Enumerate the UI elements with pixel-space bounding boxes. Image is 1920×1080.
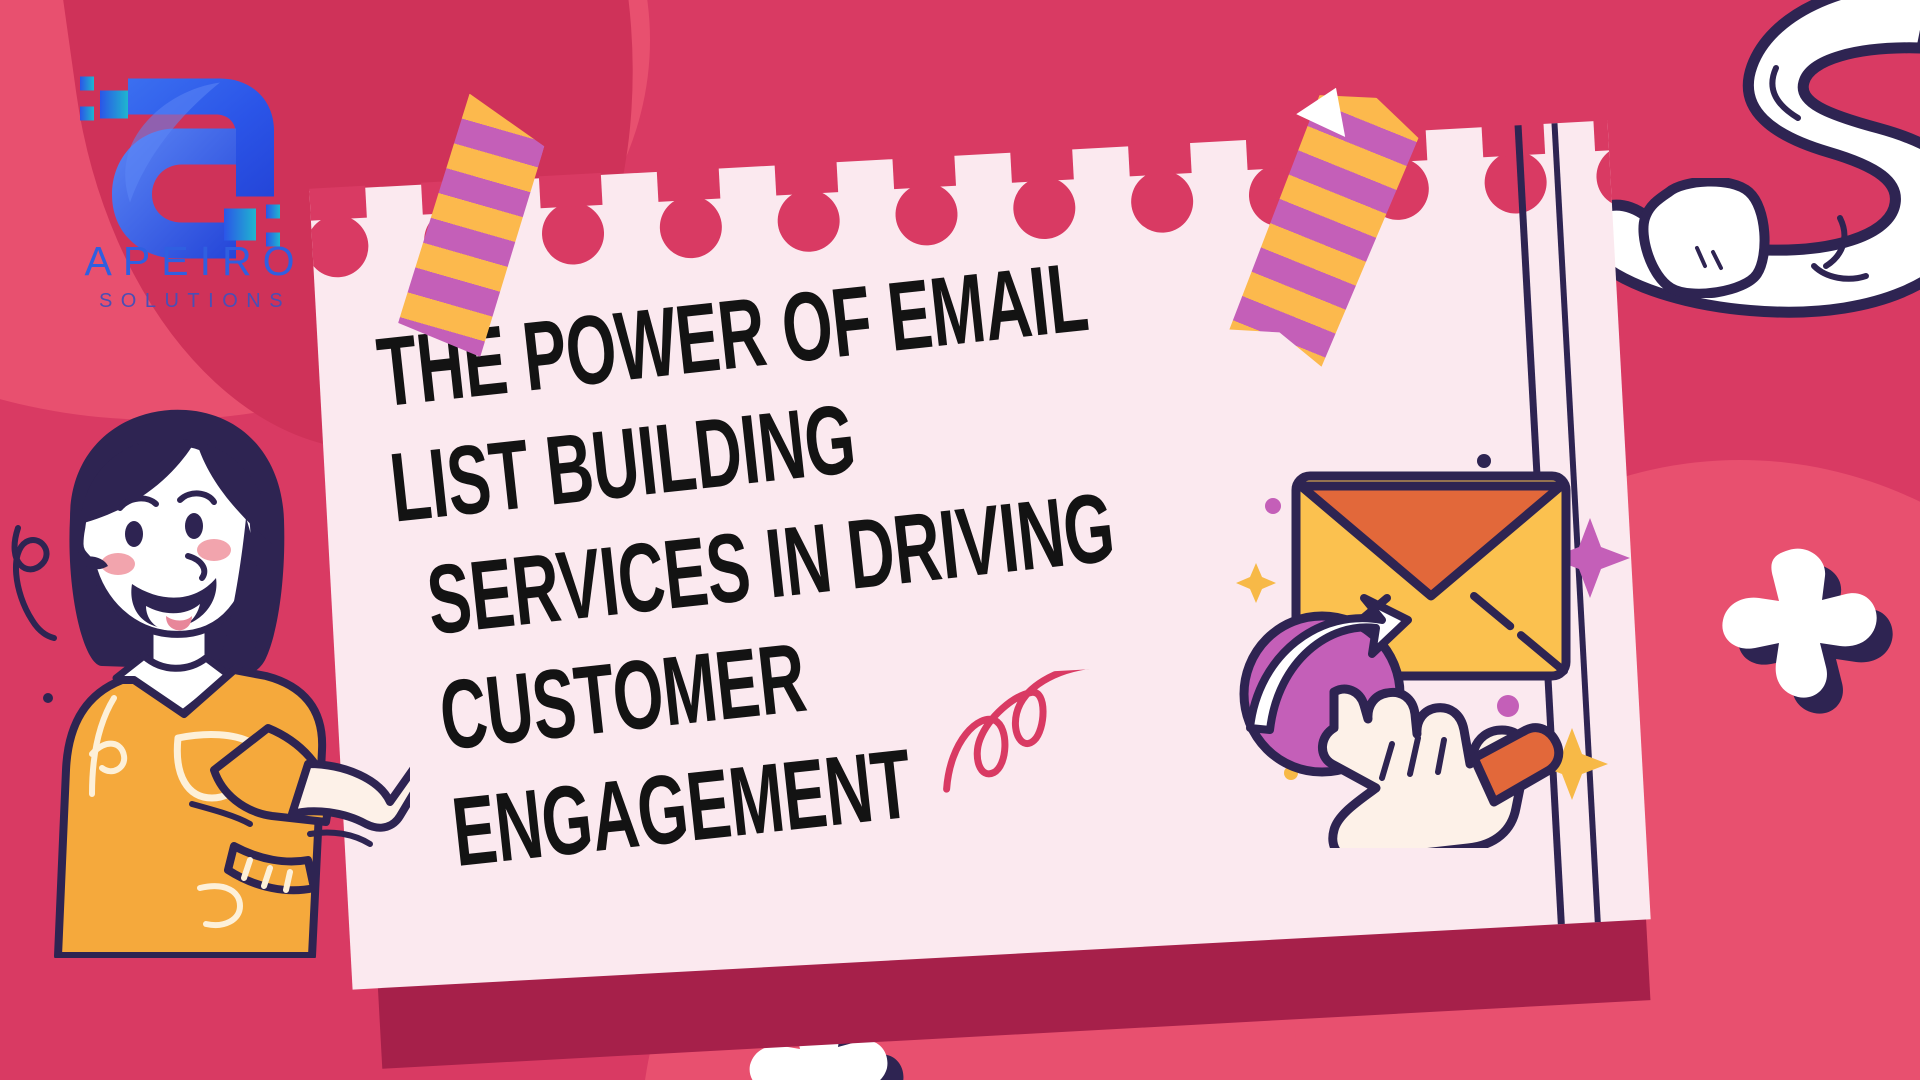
rounded-square-icon: [1635, 178, 1770, 298]
email-illustration: [1212, 428, 1642, 848]
dot-navy-icon: [1477, 454, 1491, 468]
brand-name: APEIRO: [70, 238, 320, 285]
dot-purple-icon: [1497, 695, 1519, 717]
banner-canvas: THE POWER OF EMAIL LIST BUILDING SERVICE…: [0, 0, 1920, 1080]
dot-purple-icon: [1265, 498, 1281, 514]
dot-navy-icon: [43, 693, 53, 703]
sparkle-yellow-small-icon: [1236, 563, 1276, 603]
cross-sparkle-icon: [1717, 548, 1902, 726]
smiling-woman-pointing: [10, 398, 410, 958]
eye-left-icon: [125, 521, 143, 547]
eye-right-icon: [185, 513, 203, 539]
brand-tagline: SOLUTIONS: [70, 290, 320, 313]
pointing-hand-icon: [1322, 689, 1558, 848]
squiggle-left-icon: [15, 528, 54, 638]
blush-right-icon: [197, 539, 231, 561]
